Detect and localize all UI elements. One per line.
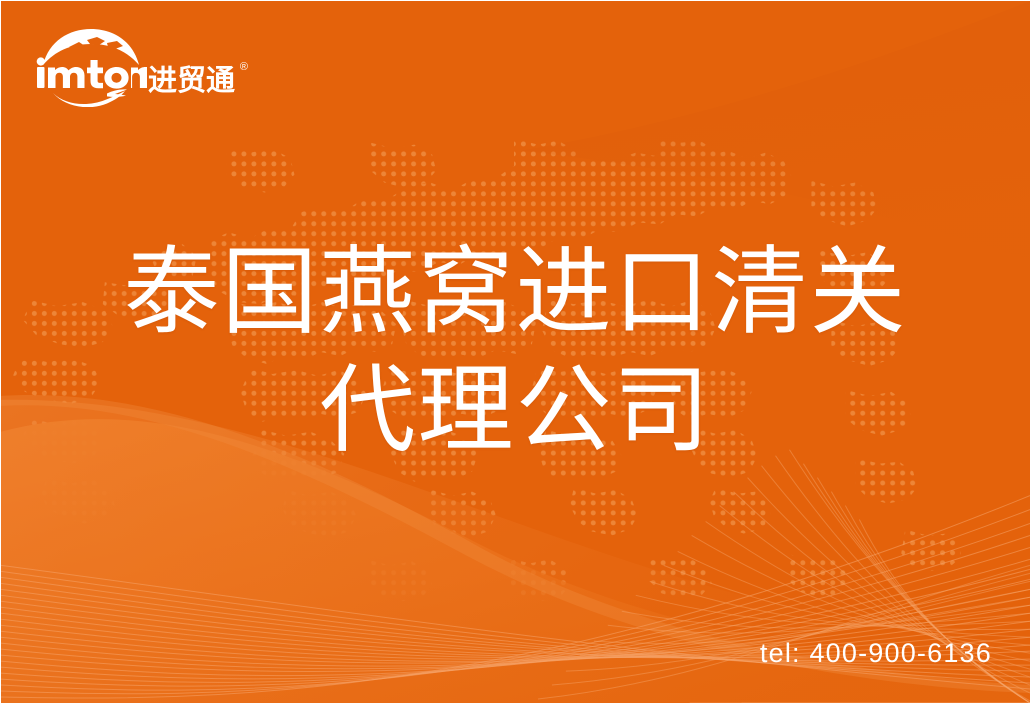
registered-mark-icon: ® (240, 62, 248, 73)
contact-phone[interactable]: tel: 400-900-6136 (760, 640, 992, 667)
page-title-line-2: 代理公司 (1, 352, 1030, 470)
logo-mark (35, 27, 146, 107)
logo-chinese-label: 进贸通 (148, 65, 235, 97)
brand-logo[interactable]: 进贸通 ® (35, 27, 235, 107)
promo-banner: 进贸通 ® 泰国燕窝进口清关 代理公司 tel: 400-900-6136 (0, 0, 1031, 704)
page-title-line-1: 泰国燕窝进口清关 (1, 234, 1030, 352)
logo-chinese-text: 进贸通 ® (148, 67, 235, 96)
globe-icon (35, 27, 147, 107)
page-title: 泰国燕窝进口清关 代理公司 (1, 234, 1030, 470)
